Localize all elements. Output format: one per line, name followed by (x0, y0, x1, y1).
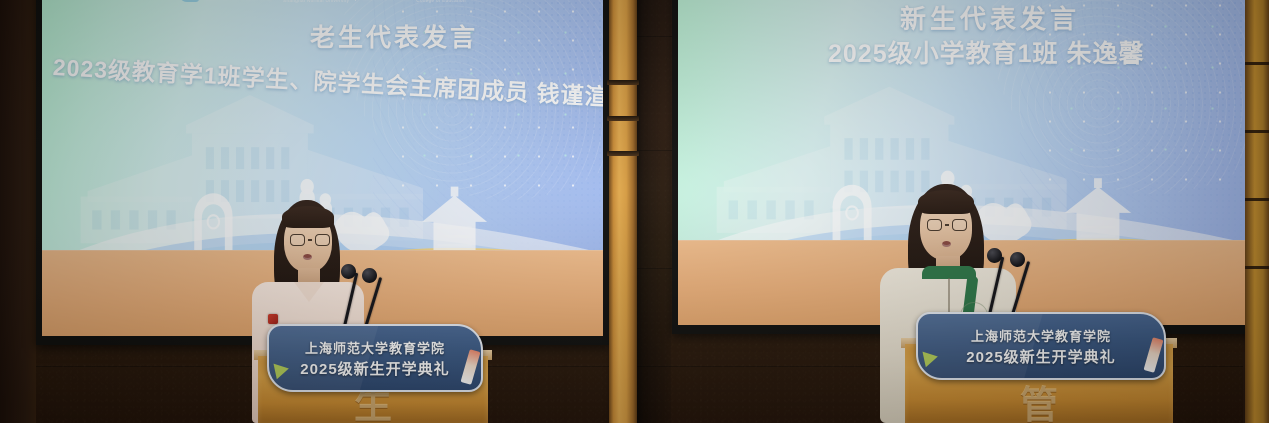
right-screen-title: 新生代表发言 (900, 0, 1080, 36)
banner-line-1: 上海师范大学教育学院 (971, 326, 1111, 345)
glasses-icon (290, 234, 330, 246)
banner-line-2: 2025级新生开学典礼 (966, 346, 1115, 367)
right-screen-subtitle: 2025级小学教育1班 朱逸馨 (828, 34, 1144, 70)
logo-divider (355, 0, 356, 1)
glasses-icon (927, 219, 967, 231)
leaf-icon (922, 349, 939, 368)
microphone-head (362, 268, 377, 283)
hair-front (282, 206, 334, 228)
logo-university-en: Shanghai Normal University (283, 0, 349, 3)
logo-university-cn: 上海师范大学 (205, 0, 277, 2)
banner-line-2: 2025级新生开学典礼 (300, 358, 449, 379)
column-shadow (637, 0, 671, 423)
right-podium: 管 上海师范大学教育学院 2025级新生开学典礼 (905, 318, 1173, 423)
mouth (303, 254, 312, 260)
leaf-icon (274, 361, 291, 380)
left-screen-title: 老生代表发言 (310, 18, 478, 54)
wooden-column (609, 0, 637, 423)
microphone-head (341, 264, 356, 279)
left-podium-banner: 上海师范大学教育学院 2025级新生开学典礼 (267, 324, 483, 392)
hair-front (918, 190, 974, 214)
column-band (607, 80, 639, 85)
university-logo-icon (179, 0, 199, 2)
logo-college-en: College of Education (416, 0, 466, 3)
left-screen-logo: 上海师范大学 Shanghai Normal University 教育学院 C… (42, 0, 603, 6)
pen-icon (1144, 337, 1164, 373)
lapel-badge (268, 314, 278, 324)
pen-icon (460, 349, 480, 385)
left-podium: 生 上海师范大学教育学院 2025级新生开学典礼 (258, 330, 488, 423)
banner-line-1: 上海师范大学教育学院 (305, 338, 445, 357)
microphone-head (987, 248, 1002, 263)
logo-college-cn: 教育学院 (362, 0, 410, 2)
collar (294, 282, 324, 302)
wall-left-shadow (0, 0, 36, 423)
right-wall-pillar (1245, 0, 1269, 423)
column-band (607, 151, 639, 156)
mouth (942, 241, 951, 247)
right-podium-banner: 上海师范大学教育学院 2025级新生开学典礼 (916, 312, 1167, 380)
microphone-head (1010, 252, 1025, 267)
column-band (607, 116, 639, 121)
auditorium-photo: 上海师范大学 Shanghai Normal University 教育学院 C… (0, 0, 1269, 423)
